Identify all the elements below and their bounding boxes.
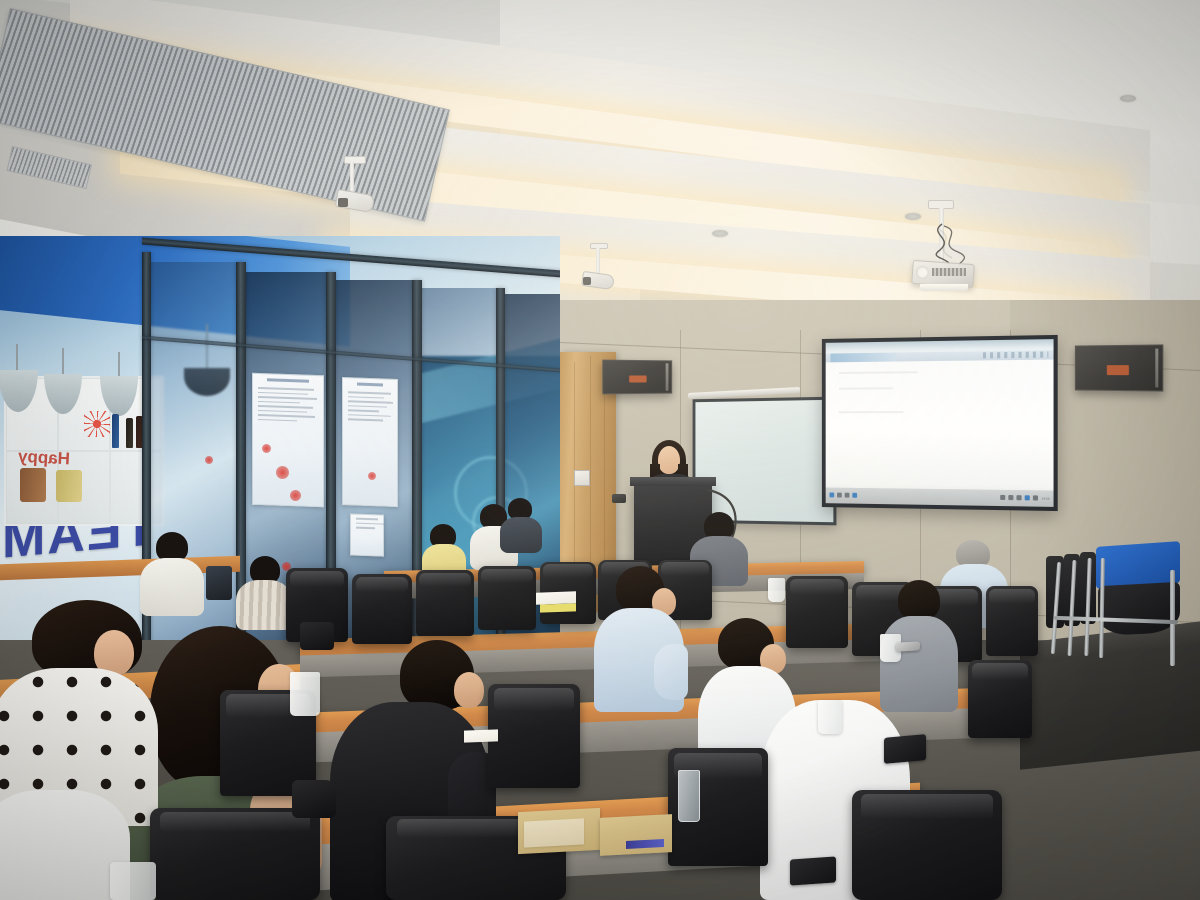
attendee-blue-shirt-1	[594, 566, 686, 716]
ceiling-security-camera	[336, 156, 376, 218]
office-chair[interactable]	[488, 684, 580, 788]
taskbar-start-icons	[829, 493, 857, 498]
projection-screen-content: 14:26	[826, 339, 1054, 507]
red-stamp	[368, 472, 376, 480]
water-glass[interactable]	[678, 770, 700, 822]
red-stamp	[290, 490, 301, 501]
smartphone[interactable]	[884, 734, 926, 764]
document-folder[interactable]	[600, 814, 672, 856]
red-decoration-icon	[84, 411, 110, 437]
paper-cup[interactable]	[768, 578, 785, 602]
remote-control[interactable]	[896, 641, 920, 651]
office-chair[interactable]	[352, 574, 412, 644]
office-chair[interactable]	[150, 808, 320, 900]
podium-top-surface	[630, 477, 716, 486]
paper-cup[interactable]	[290, 672, 320, 716]
notice-poster	[342, 377, 398, 507]
handbag[interactable]	[300, 622, 334, 650]
storage-canister	[20, 468, 46, 502]
smartphone[interactable]	[790, 856, 836, 885]
stacked-folding-chairs[interactable]	[1038, 540, 1188, 670]
ceiling-projector	[908, 200, 982, 302]
storage-canister	[56, 470, 82, 502]
sticky-note[interactable]	[540, 603, 576, 612]
screen-document-body	[839, 369, 1040, 473]
screen-taskbar: 14:26	[826, 487, 1054, 507]
office-chair[interactable]	[986, 586, 1038, 656]
podium-side-object	[612, 494, 626, 503]
taskbar-tray-icons	[1001, 495, 1039, 501]
ceiling-security-camera	[580, 243, 616, 299]
office-chair[interactable]	[416, 570, 474, 636]
attendee-dark-top	[498, 498, 542, 550]
office-chair[interactable]	[478, 566, 536, 630]
paper-cup[interactable]	[110, 862, 156, 900]
wall-speaker-right	[1075, 344, 1163, 391]
attendee-striped	[236, 556, 292, 626]
red-stamp	[262, 444, 271, 453]
office-chair[interactable]	[852, 790, 1002, 900]
conference-room-photo: 14:26 TEAM Happy	[0, 0, 1200, 900]
notice-poster	[350, 513, 384, 556]
wine-bottle	[126, 418, 133, 448]
red-stamp	[276, 466, 289, 479]
cafe-sign-text: Happy	[18, 447, 71, 470]
wall-speaker-left	[602, 360, 672, 395]
handout-paper[interactable]	[464, 729, 498, 742]
wine-bottle	[112, 414, 119, 448]
screen-clock: 14:26	[1042, 496, 1050, 500]
recessed-downlight-icon	[1120, 95, 1136, 102]
red-stamp	[205, 456, 213, 464]
recessed-downlight-icon	[712, 230, 728, 237]
handout-paper[interactable]	[524, 818, 584, 847]
office-chair[interactable]	[968, 660, 1032, 738]
handbag[interactable]	[292, 780, 336, 818]
screen-window-titlebar	[826, 351, 1054, 362]
wall-switch-plate[interactable]	[574, 470, 590, 486]
handbag[interactable]	[206, 566, 232, 600]
notice-poster	[252, 373, 324, 508]
projector-lens-icon	[916, 266, 929, 279]
projection-screen[interactable]: 14:26	[822, 335, 1058, 511]
paper-cup[interactable]	[818, 700, 842, 734]
